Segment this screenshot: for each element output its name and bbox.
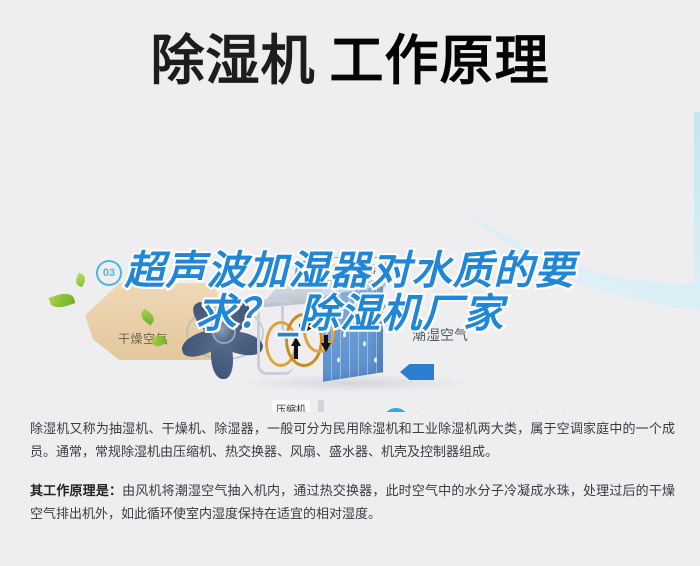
page-root: 除湿机工作原理 干燥空气 03 02 01 02 03 热交换器 (0, 0, 700, 566)
title-primary: 除湿机 (151, 29, 316, 92)
leaf-icon (49, 291, 76, 311)
badge-03-left: 03 (96, 260, 122, 286)
caption-condensation: 空气经过蒸发器冷凝成水珠 (412, 408, 568, 412)
badge-02-caption: 02 (383, 408, 409, 412)
page-title: 除湿机工作原理 (0, 22, 700, 100)
paragraph-2-rest: 由风机将潮湿空气抽入机内，通过热交换器，此时空气中的水分子冷凝成水珠，处理过后的… (30, 484, 675, 522)
principle-illustration: 干燥空气 03 02 01 02 03 热交换器 (0, 112, 700, 412)
leaf-icon (74, 273, 87, 288)
caption-humid-air: 潮湿空气 (412, 325, 468, 345)
flow-arrow-up (291, 337, 301, 346)
paragraph-1: 除湿机又称为抽湿机、干燥机、除湿器，一般可分为民用除湿机和工业除湿机两大类，属于… (30, 418, 675, 464)
flow-arrow-stem (294, 345, 298, 359)
flow-arrow-right (307, 321, 316, 331)
compressor-label: 压缩机 (272, 400, 310, 412)
paragraph-2: 其工作原理是：由风机将潮湿空气抽入机内，通过热交换器，此时空气中的水分子冷凝成水… (30, 480, 675, 526)
machine-core (255, 277, 395, 397)
title-secondary: 工作原理 (330, 29, 550, 92)
fan-hub (212, 320, 236, 344)
paragraph-2-lead: 其工作原理是： (30, 484, 122, 499)
flow-arrow-down (321, 343, 331, 352)
article-body: 除湿机又称为抽湿机、干燥机、除湿器，一般可分为民用除湿机和工业除湿机两大类，属于… (30, 418, 675, 542)
